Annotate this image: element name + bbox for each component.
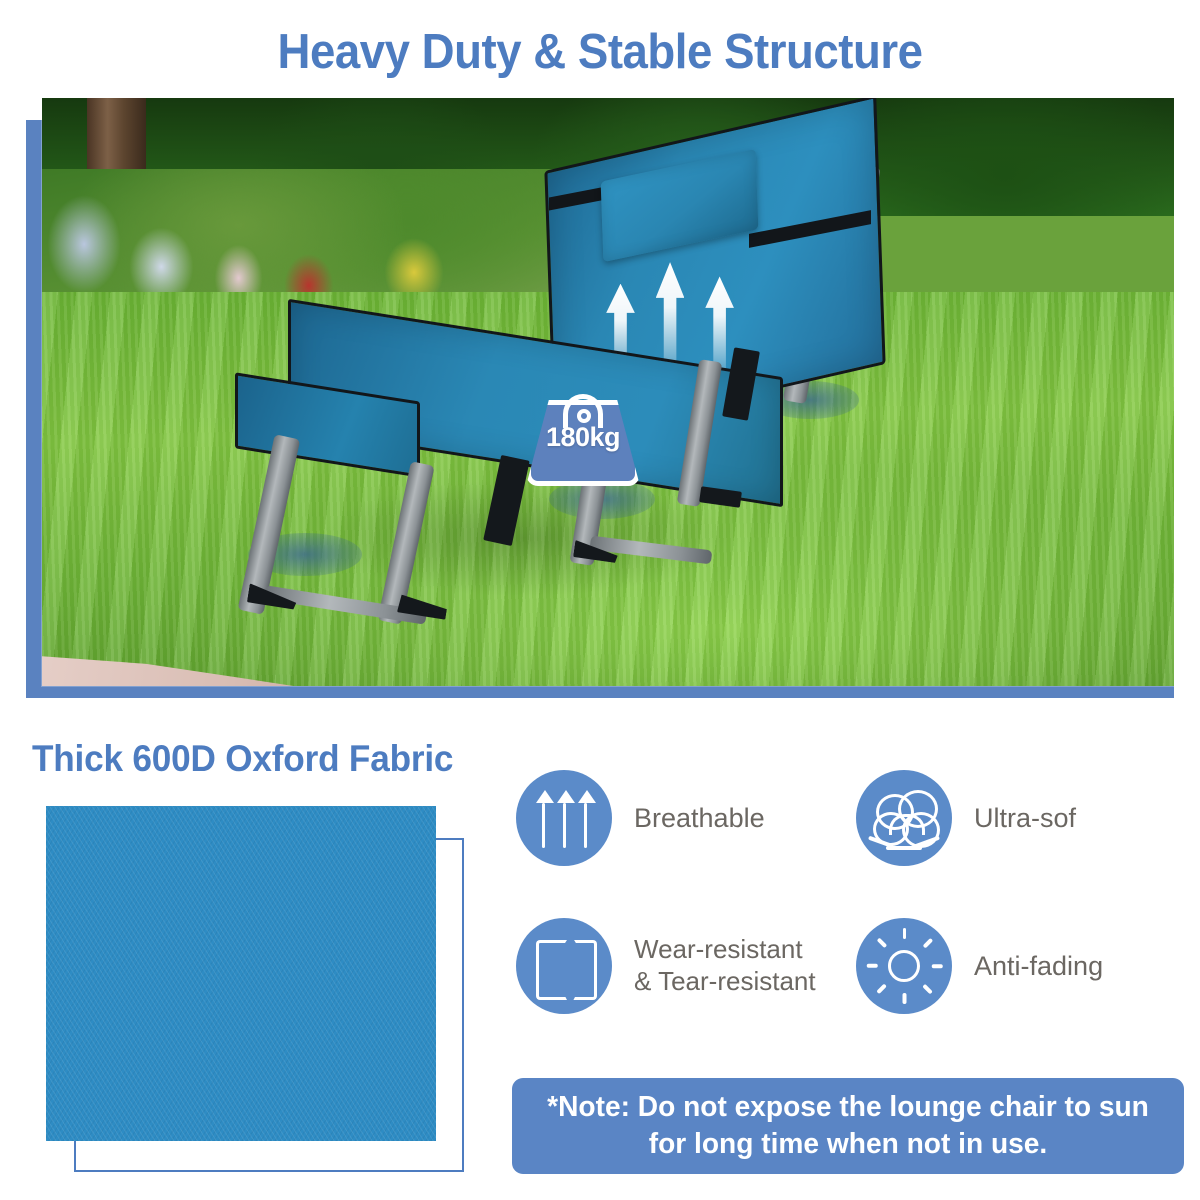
hero-image-block: 180kg — [26, 98, 1178, 698]
sun-ray-icon — [903, 993, 907, 1004]
sun-ray-icon — [931, 964, 942, 968]
lounge-chair-on-lawn-photo: 180kg — [42, 98, 1174, 686]
feature-item-breathable: Breathable — [516, 770, 765, 866]
feature-grid: Breathable Ultra-sof — [516, 770, 1184, 1050]
tear-resistant-icon — [516, 918, 612, 1014]
feature-item-anti-fading: Anti-fading — [856, 918, 1103, 1014]
breathable-icon — [516, 770, 612, 866]
sun-ray-icon — [876, 984, 886, 994]
ultra-soft-icon — [856, 770, 952, 866]
sun-ray-icon — [922, 938, 932, 948]
fabric-swatch-block — [46, 806, 476, 1176]
infographic-page: Heavy Duty & Stable Structure — [0, 0, 1200, 1200]
note-text: *Note: Do not expose the lounge chair to… — [522, 1089, 1174, 1163]
fabric-swatch — [46, 806, 436, 1141]
weight-capacity-value: 180kg — [520, 422, 646, 453]
note-box: *Note: Do not expose the lounge chair to… — [512, 1078, 1184, 1174]
feature-item-ultra-soft: Ultra-sof — [856, 770, 1076, 866]
fabric-section-title: Thick 600D Oxford Fabric — [32, 738, 453, 780]
sun-ray-icon — [903, 928, 907, 939]
sun-ray-icon — [876, 938, 886, 948]
feature-label: Wear-resistant & Tear-resistant — [634, 934, 816, 997]
feature-label: Breathable — [634, 802, 765, 835]
sun-ray-icon — [922, 984, 932, 994]
note-line1: *Note: Do not expose the lounge chair to — [547, 1091, 1091, 1123]
weight-capacity-badge: 180kg — [520, 376, 646, 488]
page-title: Heavy Duty & Stable Structure — [42, 24, 1158, 80]
feature-item-tear-resistant: Wear-resistant & Tear-resistant — [516, 918, 816, 1014]
feature-label-line1: Wear-resistant — [634, 934, 816, 966]
sun-ray-icon — [866, 964, 877, 968]
feature-label-line2: & Tear-resistant — [634, 966, 816, 998]
feature-label: Anti-fading — [974, 950, 1103, 983]
sun-icon — [856, 918, 952, 1014]
feature-label: Ultra-sof — [974, 802, 1076, 835]
